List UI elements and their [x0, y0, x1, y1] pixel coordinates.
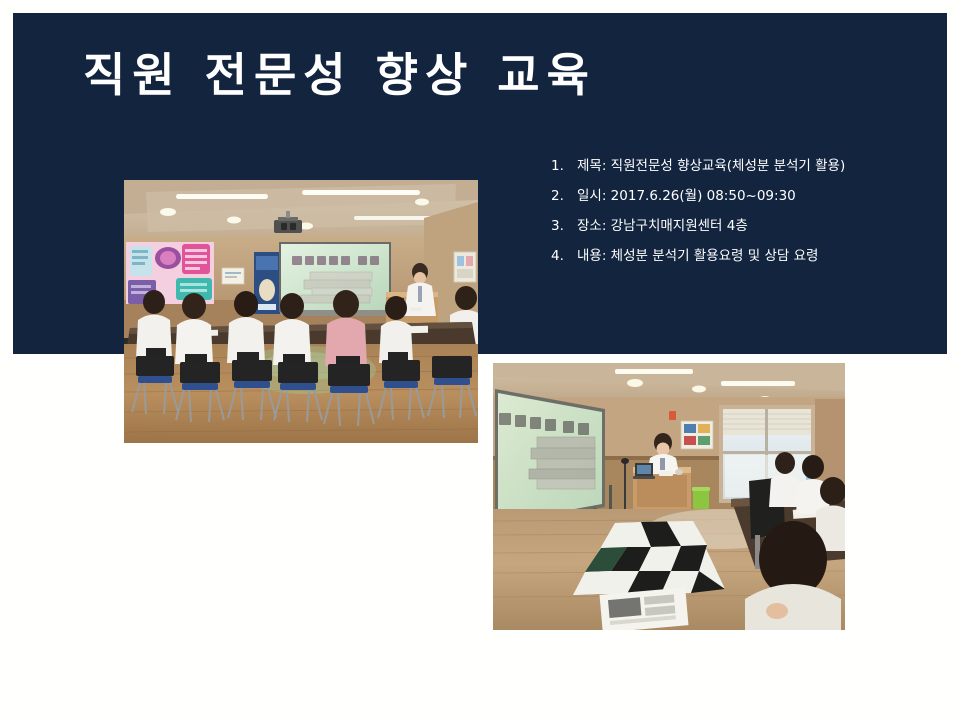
list-item: 2. 일시: 2017.6.26(월) 08:50~09:30 [551, 184, 845, 214]
list-item: 4. 내용: 체성분 분석기 활용요령 및 상담 요령 [551, 244, 845, 274]
wall-poster [681, 421, 713, 449]
list-item-label: 내용: 체성분 분석기 활용요령 및 상담 요령 [577, 244, 818, 264]
list-item-label: 장소: 강남구치매지원센터 4층 [577, 214, 748, 234]
list-item-number: 1. [551, 158, 577, 174]
presenter-podium-illustration [493, 363, 845, 630]
page-title: 직원 전문성 향상 교육 [83, 49, 596, 102]
foreground-papers [600, 587, 689, 630]
photo-training-room-wide [124, 180, 478, 443]
photo-presenter-podium [493, 363, 845, 630]
training-room-illustration [124, 180, 478, 443]
wall-poster [126, 242, 214, 304]
list-item-number: 2. [551, 188, 577, 204]
projection-screen [495, 389, 605, 527]
detail-list: 1. 제목: 직원전문성 향상교육(체성분 분석기 활용) 2. 일시: 201… [551, 154, 845, 274]
list-item-number: 4. [551, 248, 577, 264]
list-item-label: 제목: 직원전문성 향상교육(체성분 분석기 활용) [577, 154, 845, 174]
list-item: 1. 제목: 직원전문성 향상교육(체성분 분석기 활용) [551, 154, 845, 184]
slide-canvas: 직원 전문성 향상 교육 1. 제목: 직원전문성 향상교육(체성분 분석기 활… [0, 0, 960, 720]
list-item: 3. 장소: 강남구치매지원센터 4층 [551, 214, 845, 244]
list-item-label: 일시: 2017.6.26(월) 08:50~09:30 [577, 184, 796, 204]
list-item-number: 3. [551, 218, 577, 234]
